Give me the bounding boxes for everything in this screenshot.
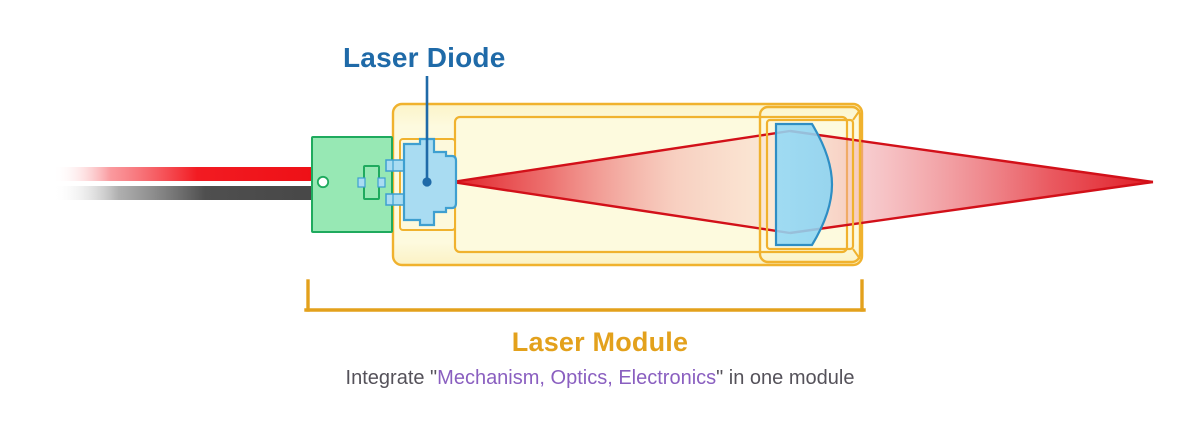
caption-suffix: " in one module	[716, 367, 854, 389]
pcb-component	[364, 166, 379, 199]
diagram-canvas: Laser Diode Laser Module Integrate "Mech…	[0, 0, 1200, 435]
label-laser-module: Laser Module	[0, 327, 1200, 358]
caption-prefix: Integrate "	[346, 367, 438, 389]
wire-bundle	[53, 167, 315, 200]
pcb-component-pad-right	[378, 178, 385, 187]
leader-anchor-dot	[422, 177, 431, 186]
pcb-board	[312, 137, 392, 232]
pcb-mount-hole	[318, 177, 328, 187]
beam-focused	[790, 131, 1153, 233]
wire-black	[53, 186, 315, 200]
module-bracket	[306, 281, 864, 310]
label-laser-diode: Laser Diode	[343, 42, 505, 74]
pcb-component-pad-left	[358, 178, 365, 187]
caption-accent: Mechanism, Optics, Electronics	[437, 367, 716, 389]
wire-red	[53, 167, 315, 181]
caption: Integrate "Mechanism, Optics, Electronic…	[0, 367, 1200, 390]
